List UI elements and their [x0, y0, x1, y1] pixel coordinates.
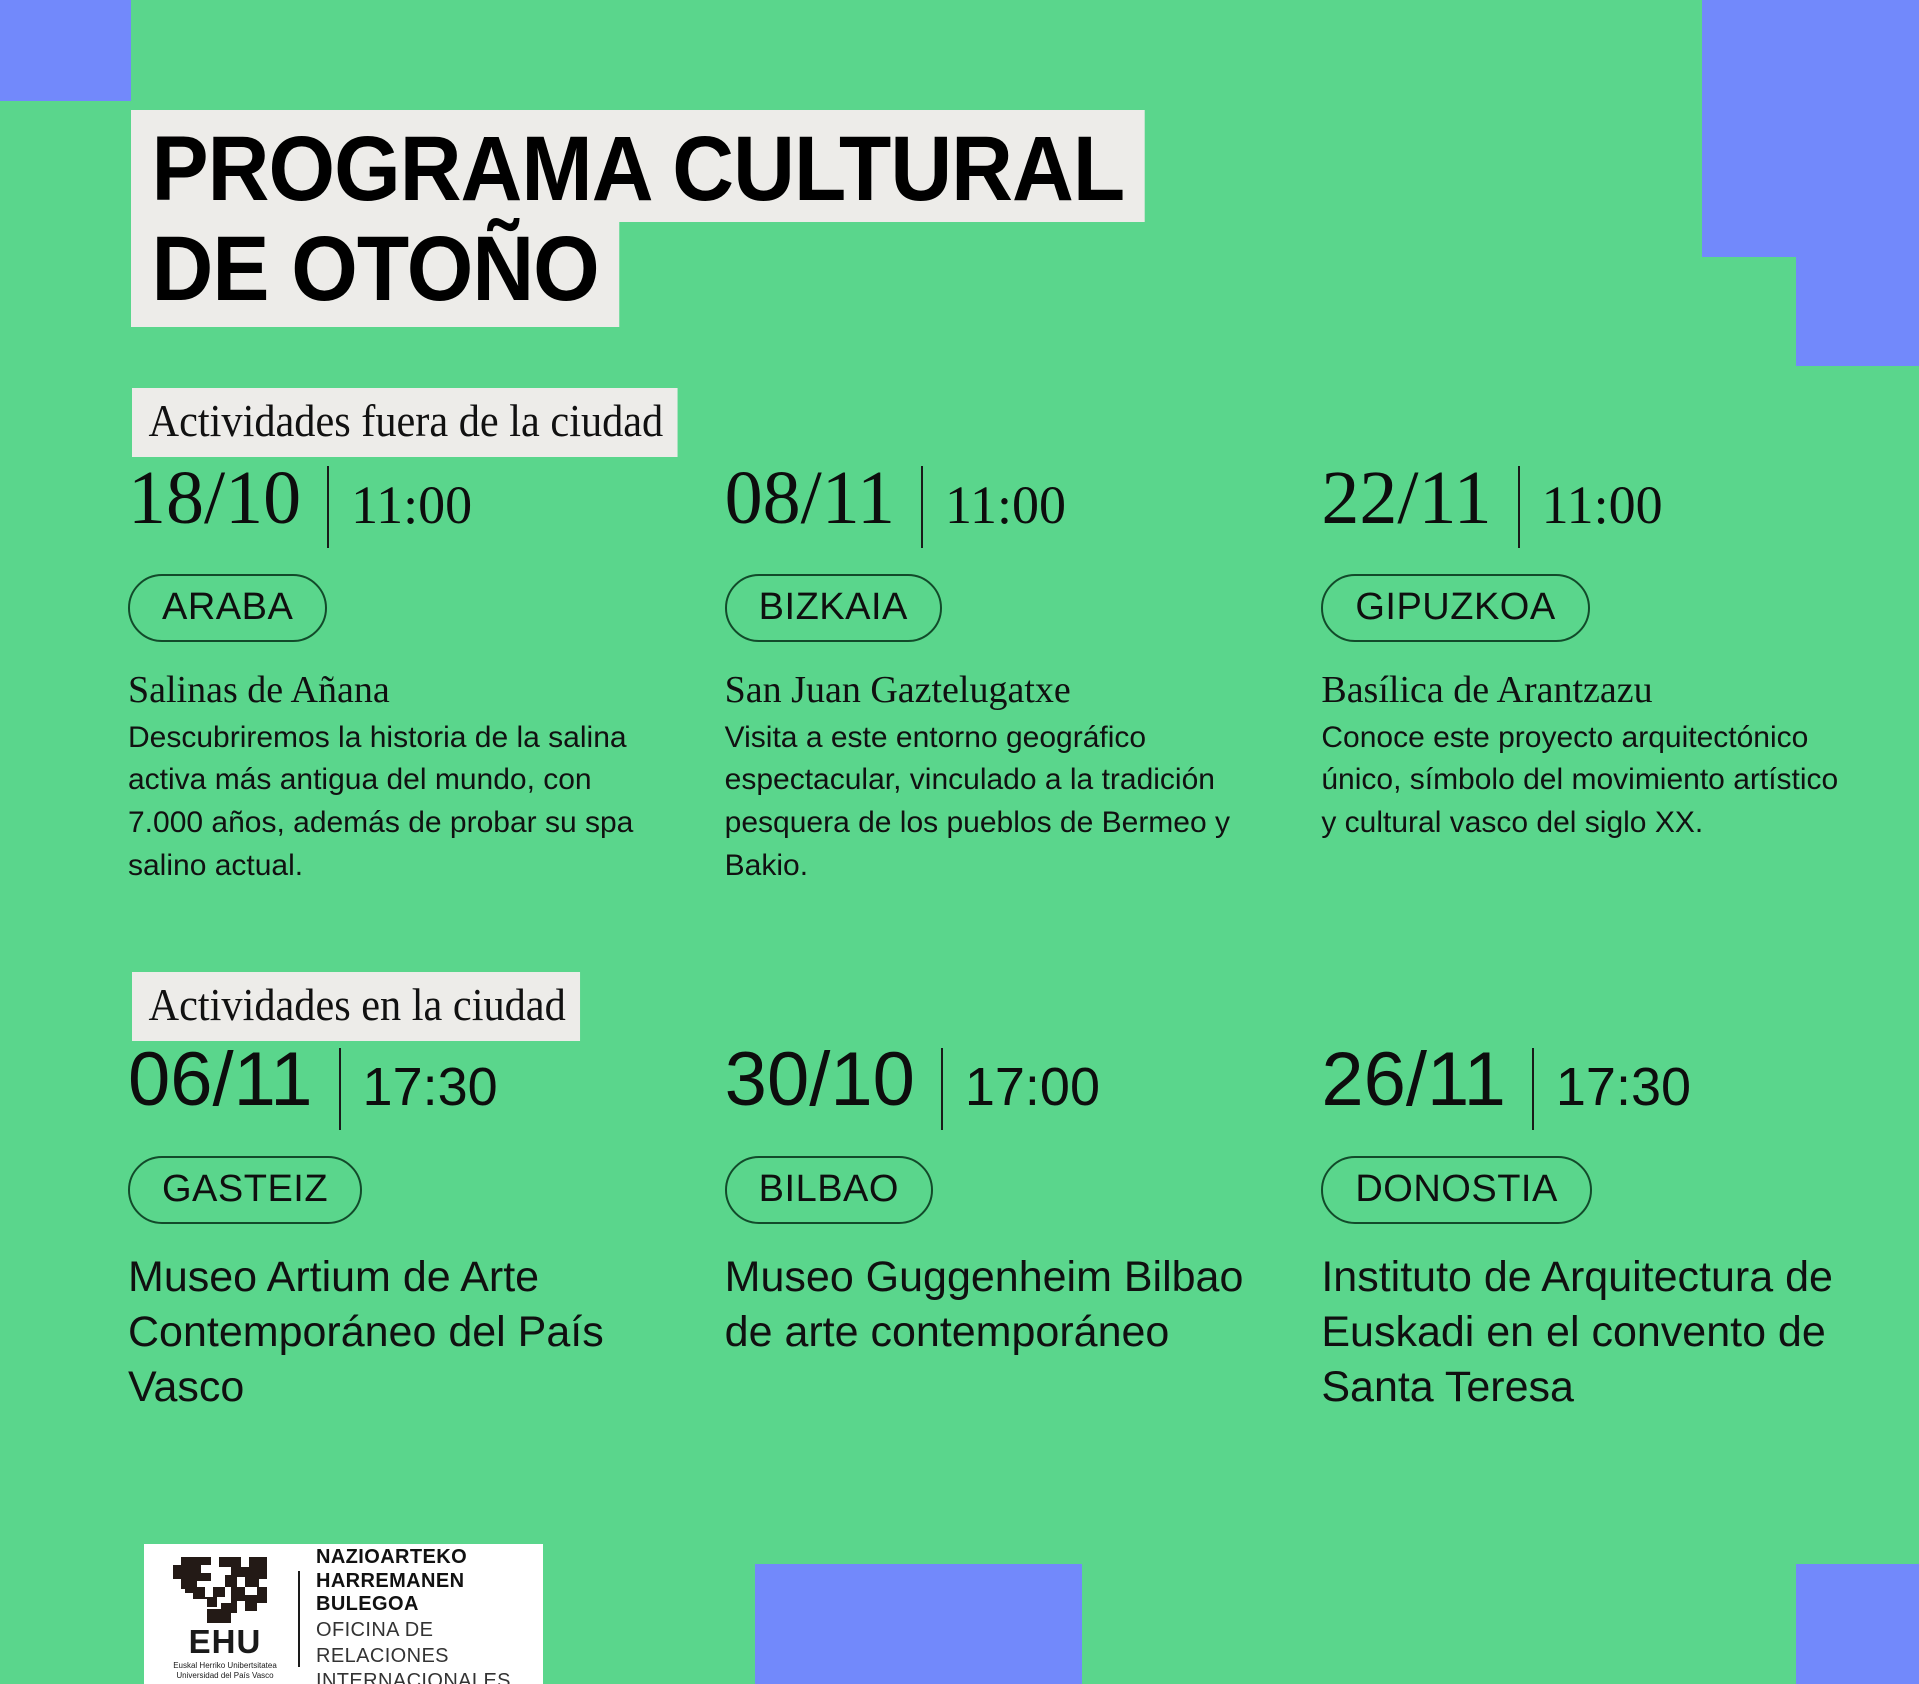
- date-time-divider: [1532, 1048, 1534, 1130]
- event-time: 17:30: [363, 1060, 498, 1114]
- section-heading-outside-city: Actividades fuera de la ciudad: [132, 388, 678, 457]
- event-card-bizkaia: 08/11 11:00 BIZKAIA San Juan Gaztelugatx…: [725, 460, 1322, 887]
- decor-block-top-left: [0, 0, 131, 101]
- event-time: 11:00: [351, 478, 472, 532]
- event-datetime: 30/10 17:00: [725, 1042, 1306, 1134]
- poster-canvas: PROGRAMA CULTURAL DE OTOÑO Actividades f…: [0, 0, 1919, 1684]
- date-time-divider: [1518, 466, 1520, 548]
- office-es-line-1: OFICINA DE: [316, 1619, 511, 1643]
- logo-mark-group: EHU Euskal Herriko Unibertsitatea Univer…: [166, 1557, 284, 1681]
- event-card-bilbao: 30/10 17:00 BILBAO Museo Guggenheim Bilb…: [725, 1042, 1322, 1415]
- event-venue: Museo Artium de Arte Contemporáneo del P…: [128, 1250, 668, 1415]
- event-row-outside-city: 18/10 11:00 ARABA Salinas de Añana Descu…: [128, 460, 1918, 887]
- logo-acronym: EHU: [189, 1625, 262, 1658]
- event-date: 08/11: [725, 460, 895, 536]
- event-date: 30/10: [725, 1042, 915, 1118]
- ehu-chillida-mark-icon: [173, 1557, 277, 1623]
- office-eu-line-3: BULEGOA: [316, 1593, 511, 1617]
- logo-tagline-es: Universidad del País Vasco: [176, 1671, 273, 1681]
- title-line-1: PROGRAMA CULTURAL: [131, 110, 1145, 222]
- event-time: 11:00: [1542, 478, 1663, 532]
- office-es-line-3: INTERNACIONALES: [316, 1670, 511, 1684]
- decor-block-top-right-tall: [1796, 0, 1919, 366]
- event-venue: Museo Guggenheim Bilbao de arte contempo…: [725, 1250, 1265, 1360]
- office-eu-line-2: HARREMANEN: [316, 1570, 511, 1594]
- event-datetime: 08/11 11:00: [725, 460, 1306, 552]
- ehu-logo-lockup: EHU Euskal Herriko Unibertsitatea Univer…: [144, 1544, 543, 1684]
- event-time: 17:00: [965, 1060, 1100, 1114]
- region-badge-bizkaia: BIZKAIA: [725, 574, 942, 642]
- event-card-donostia: 26/11 17:30 DONOSTIA Instituto de Arquit…: [1321, 1042, 1918, 1415]
- event-date: 22/11: [1321, 460, 1491, 536]
- office-es-line-2: RELACIONES: [316, 1645, 511, 1669]
- logo-office-text: NAZIOARTEKO HARREMANEN BULEGOA OFICINA D…: [316, 1544, 511, 1684]
- event-card-gipuzkoa: 22/11 11:00 GIPUZKOA Basílica de Arantza…: [1321, 460, 1918, 887]
- page-title: PROGRAMA CULTURAL DE OTOÑO: [131, 110, 1221, 327]
- event-row-in-city: 06/11 17:30 GASTEIZ Museo Artium de Arte…: [128, 1042, 1918, 1415]
- event-venue: Basílica de Arantzazu: [1321, 668, 1902, 713]
- event-venue: Instituto de Arquitectura de Euskadi en …: [1321, 1250, 1861, 1415]
- event-date: 26/11: [1321, 1042, 1506, 1118]
- event-description: Conoce este proyecto arquitectónico únic…: [1321, 717, 1841, 845]
- date-time-divider: [339, 1048, 341, 1130]
- event-venue: San Juan Gaztelugatxe: [725, 668, 1306, 713]
- region-badge-donostia: DONOSTIA: [1321, 1156, 1591, 1224]
- region-badge-gipuzkoa: GIPUZKOA: [1321, 574, 1589, 642]
- event-card-araba: 18/10 11:00 ARABA Salinas de Añana Descu…: [128, 460, 725, 887]
- event-description: Descubriremos la historia de la salina a…: [128, 717, 648, 887]
- logo-divider: [298, 1571, 300, 1667]
- office-eu-line-1: NAZIOARTEKO: [316, 1546, 511, 1570]
- date-time-divider: [327, 466, 329, 548]
- decor-block-bottom-right: [1796, 1564, 1919, 1684]
- event-datetime: 18/10 11:00: [128, 460, 709, 552]
- event-card-gasteiz: 06/11 17:30 GASTEIZ Museo Artium de Arte…: [128, 1042, 725, 1415]
- event-date: 06/11: [128, 1042, 313, 1118]
- region-badge-bilbao: BILBAO: [725, 1156, 933, 1224]
- event-time: 17:30: [1556, 1060, 1691, 1114]
- event-description: Visita a este entorno geográfico especta…: [725, 717, 1245, 887]
- event-datetime: 26/11 17:30: [1321, 1042, 1902, 1134]
- event-date: 18/10: [128, 460, 301, 536]
- logo-tagline-eu: Euskal Herriko Unibertsitatea: [173, 1661, 277, 1671]
- date-time-divider: [921, 466, 923, 548]
- decor-block-bottom-middle: [755, 1564, 1082, 1684]
- region-badge-araba: ARABA: [128, 574, 327, 642]
- event-datetime: 06/11 17:30: [128, 1042, 709, 1134]
- title-line-2: DE OTOÑO: [131, 222, 619, 328]
- date-time-divider: [941, 1048, 943, 1130]
- section-heading-in-city: Actividades en la ciudad: [132, 972, 580, 1041]
- event-venue: Salinas de Añana: [128, 668, 709, 713]
- event-datetime: 22/11 11:00: [1321, 460, 1902, 552]
- region-badge-gasteiz: GASTEIZ: [128, 1156, 362, 1224]
- event-time: 11:00: [945, 478, 1066, 532]
